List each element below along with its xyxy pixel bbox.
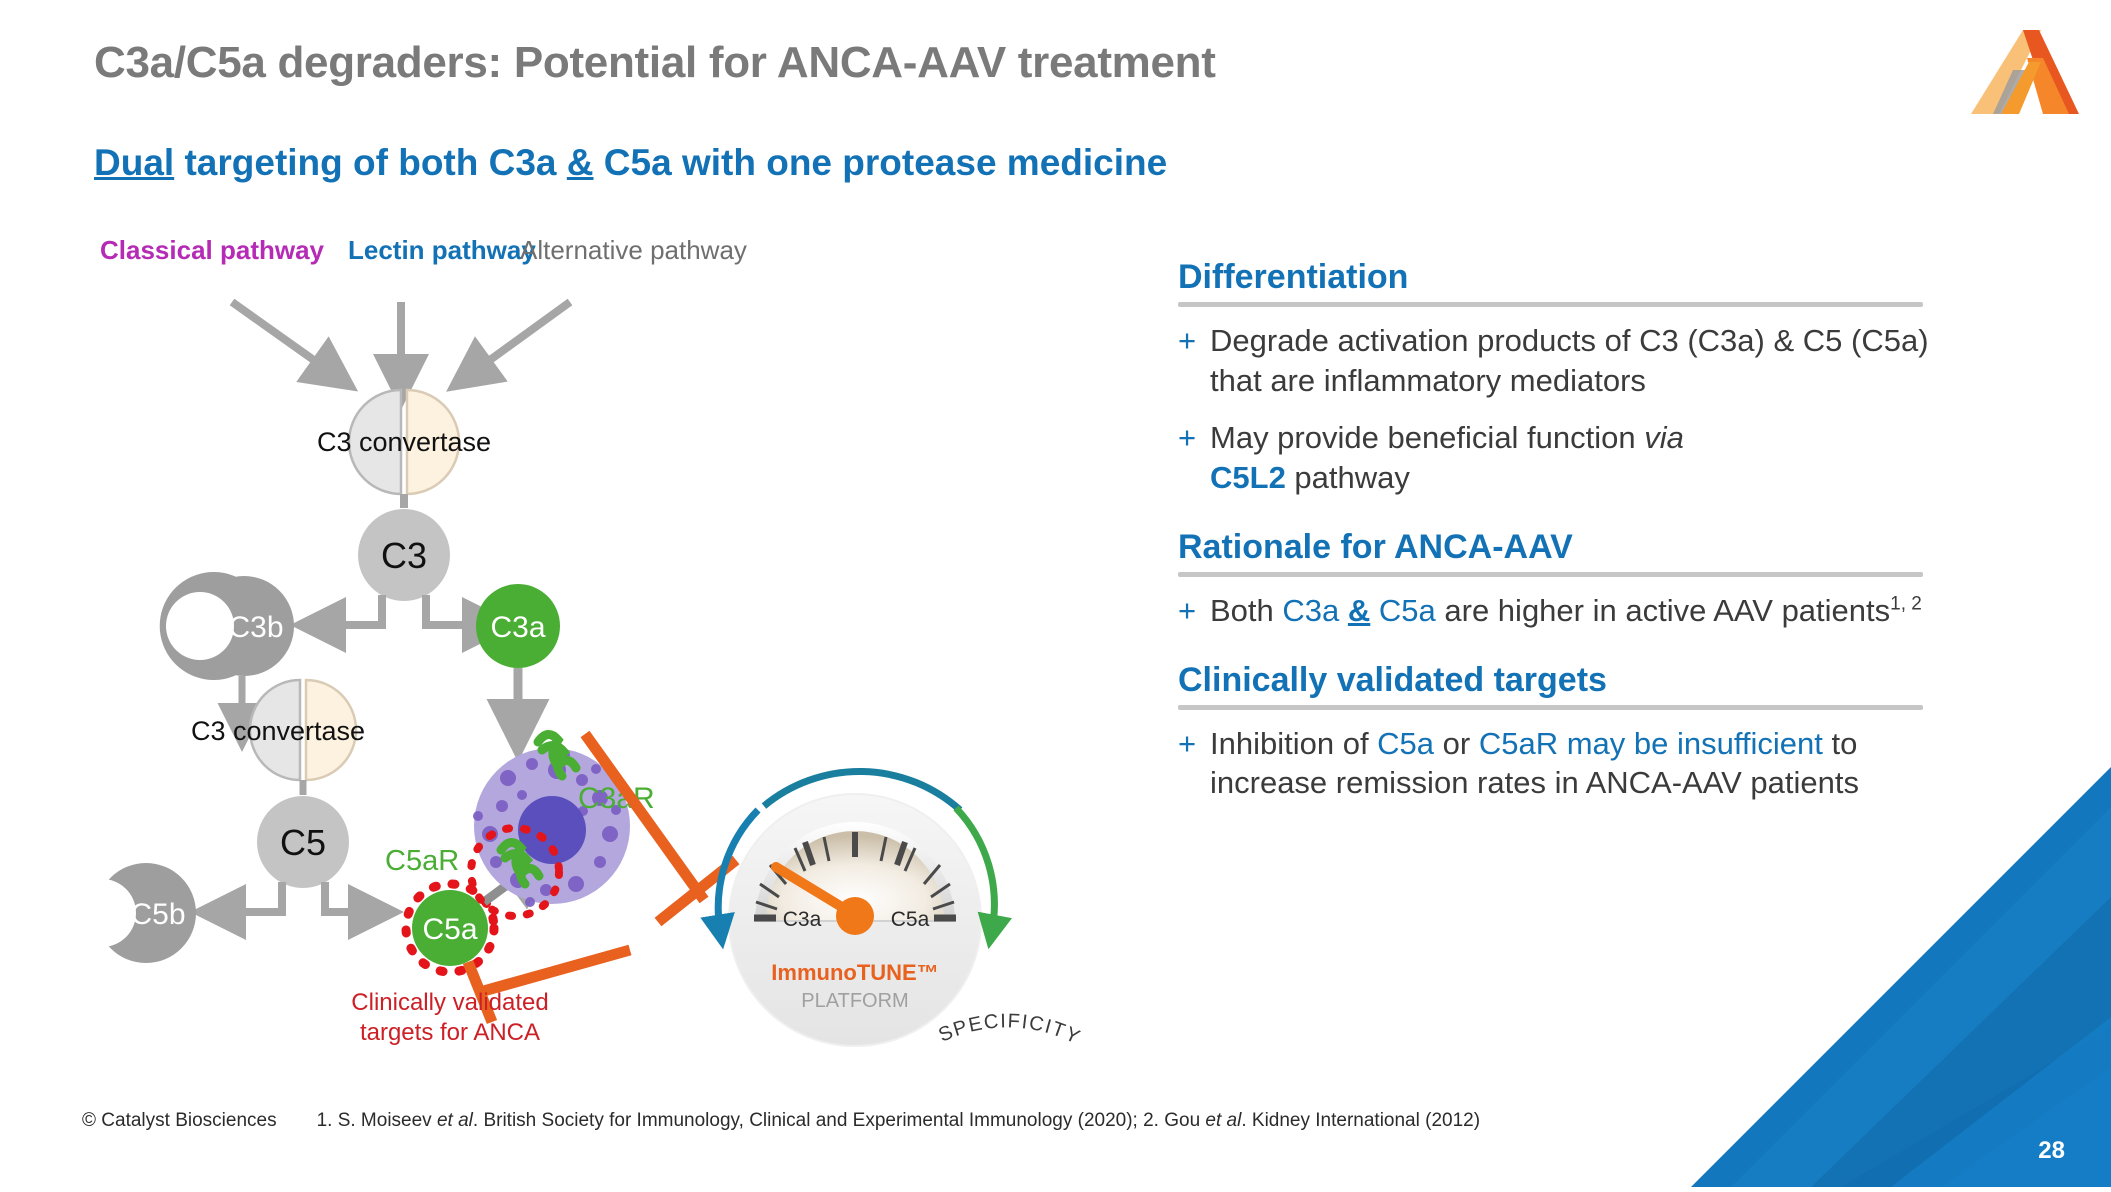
bullet-frag: pathway bbox=[1286, 460, 1410, 495]
right-content-column: Differentiation + Degrade activation pro… bbox=[1178, 258, 1968, 821]
section-heading-rationale: Rationale for ANCA-AAV bbox=[1178, 528, 1968, 566]
bullet-frag-highlight: C5a bbox=[1379, 593, 1436, 628]
label-lectin-pathway: Lectin pathway bbox=[348, 235, 536, 266]
node-label-c5a: C5a bbox=[422, 913, 477, 946]
footnote: © Catalyst Biosciences1. S. Moiseev et a… bbox=[82, 1110, 1480, 1132]
section-differentiation: Differentiation + Degrade activation pro… bbox=[1178, 258, 1968, 498]
bullet-item: + Degrade activation products of C3 (C3a… bbox=[1178, 321, 1968, 400]
immunotune-gauge: C3a C5a ImmunoTUNE™ PLATFORM SPECIFICITY bbox=[718, 772, 1084, 1050]
bullet-frag-highlight: C5aR may be insufficient bbox=[1479, 726, 1823, 761]
bullet-frag: or bbox=[1434, 726, 1479, 761]
bullet-text: May provide beneficial function viaC5L2 … bbox=[1210, 418, 1968, 497]
bullet-superscript: 1, 2 bbox=[1890, 594, 1922, 615]
bullet-marker: + bbox=[1178, 591, 1210, 631]
label-c5ar: C5aR bbox=[385, 845, 459, 877]
section-divider bbox=[1178, 705, 1923, 710]
bullet-frag-highlight: C3a bbox=[1282, 593, 1339, 628]
bullet-frag-ampersand: & bbox=[1348, 593, 1370, 628]
diagram-canvas: C3 convertase C3 C3b C3a C3 converta bbox=[60, 250, 1110, 1080]
subtitle-tail: C5a with one protease medicine bbox=[594, 142, 1168, 183]
node-label-c3-convertase-bottom: C3 convertase bbox=[191, 716, 365, 746]
bullet-frag: Inhibition of bbox=[1210, 726, 1377, 761]
section-divider bbox=[1178, 572, 1923, 577]
subtitle-mid: targeting of both C3a bbox=[174, 142, 567, 183]
gauge-label-c3a: C3a bbox=[783, 908, 822, 931]
gauge-brand-sub: PLATFORM bbox=[801, 990, 908, 1012]
catalyst-a-logo-icon bbox=[1953, 18, 2093, 122]
section-heading-differentiation: Differentiation bbox=[1178, 258, 1968, 296]
bullet-frag-italic: via bbox=[1644, 420, 1684, 455]
subtitle-dual: Dual bbox=[94, 142, 174, 183]
pathway-arrows bbox=[232, 302, 570, 378]
bullet-marker: + bbox=[1178, 724, 1210, 764]
node-label-c3: C3 bbox=[381, 535, 427, 576]
bullet-item: + Both C3a & C5a are higher in active AA… bbox=[1178, 591, 1968, 631]
reference-frag-italic: et al bbox=[437, 1110, 473, 1131]
reference-frag: 1. S. Moiseev bbox=[317, 1110, 437, 1131]
corner-decoration bbox=[1691, 767, 2111, 1187]
copyright-text: © Catalyst Biosciences bbox=[82, 1110, 277, 1131]
node-label-c3a: C3a bbox=[490, 611, 545, 644]
page-subtitle: Dual targeting of both C3a & C5a with on… bbox=[94, 142, 1794, 184]
label-alternative-pathway: Alternative pathway bbox=[520, 235, 747, 266]
reference-frag: . British Society for Immunology, Clinic… bbox=[473, 1110, 1206, 1131]
page-number: 28 bbox=[2038, 1137, 2065, 1165]
section-heading-clinically-validated: Clinically validated targets bbox=[1178, 661, 1968, 699]
node-label-c5: C5 bbox=[280, 822, 326, 863]
reference-frag: . Kidney International (2012) bbox=[1241, 1110, 1480, 1131]
gauge-brand: ImmunoTUNE™ bbox=[771, 960, 938, 985]
section-rationale: Rationale for ANCA-AAV + Both C3a & C5a … bbox=[1178, 528, 1968, 631]
node-label-c5b: C5b bbox=[130, 898, 185, 931]
bullet-text: Degrade activation products of C3 (C3a) … bbox=[1210, 321, 1968, 400]
gauge-arc-label: SPECIFICITY bbox=[935, 1010, 1084, 1049]
bullet-frag-highlight: C5a bbox=[1377, 726, 1434, 761]
bullet-frag: May provide beneficial function bbox=[1210, 420, 1644, 455]
label-classical-pathway: Classical pathway bbox=[100, 235, 324, 266]
subtitle-ampersand: & bbox=[567, 142, 594, 183]
bullet-frag-highlight: C5L2 bbox=[1210, 460, 1286, 495]
bullet-marker: + bbox=[1178, 321, 1210, 361]
bullet-frag: Degrade activation products of C3 (C3a) … bbox=[1210, 323, 1794, 358]
node-label-c3-convertase-top: C3 convertase bbox=[317, 427, 491, 457]
bullet-text: Both C3a & C5a are higher in active AAV … bbox=[1210, 591, 1968, 631]
bullet-item: + May provide beneficial function viaC5L… bbox=[1178, 418, 1968, 497]
complement-pathway-diagram: Classical pathway Lectin pathway Alterna… bbox=[60, 250, 1110, 1080]
bullet-frag: Both bbox=[1210, 593, 1282, 628]
section-divider bbox=[1178, 302, 1923, 307]
node-label-c3b: C3b bbox=[228, 611, 283, 644]
gauge-label-c5a: C5a bbox=[891, 908, 930, 931]
reference-frag-italic: et al bbox=[1205, 1110, 1241, 1131]
annotation-line-2: targets for ANCA bbox=[360, 1019, 540, 1046]
annotation-line-1: Clinically validated bbox=[351, 989, 548, 1016]
bullet-marker: + bbox=[1178, 418, 1210, 458]
bullet-frag: are higher in active AAV patients bbox=[1436, 593, 1890, 628]
page-title: C3a/C5a degraders: Potential for ANCA-AA… bbox=[94, 38, 1894, 88]
